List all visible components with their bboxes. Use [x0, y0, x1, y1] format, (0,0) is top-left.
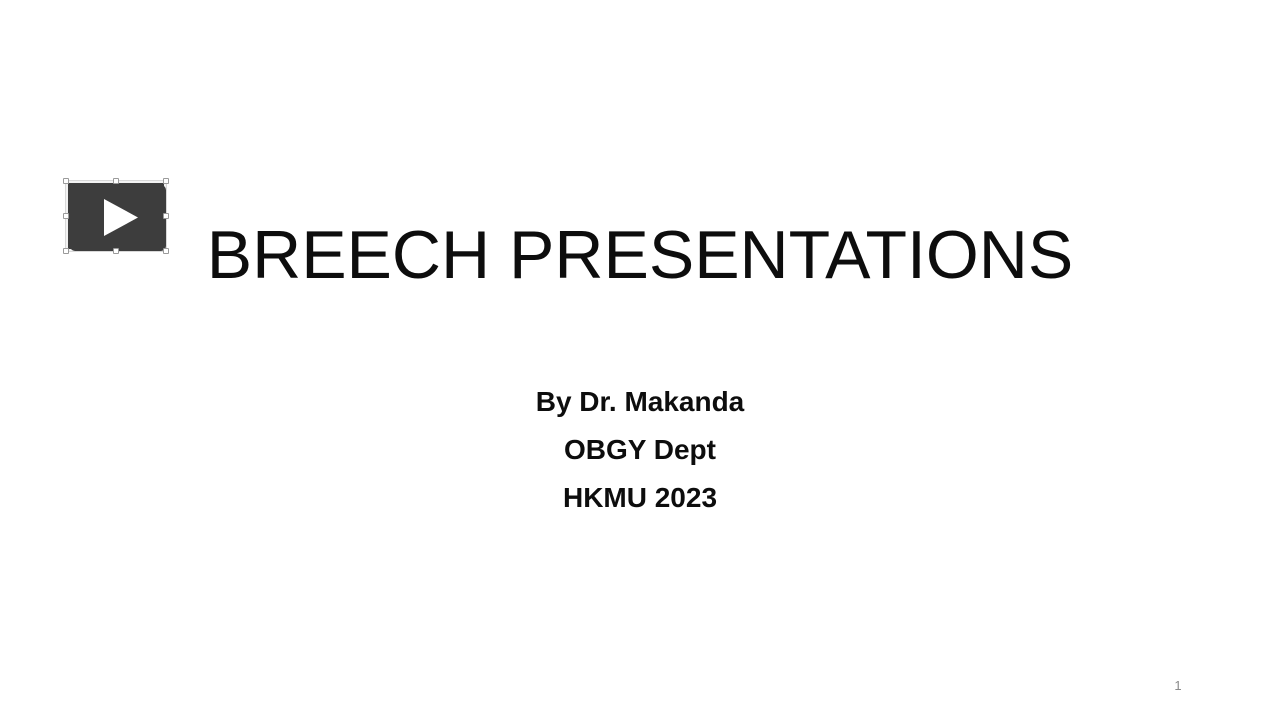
subtitle-line-institution-year: HKMU 2023	[240, 474, 1040, 522]
selection-handle-top-center[interactable]	[113, 178, 119, 184]
presentation-slide: BREECH PRESENTATIONS By Dr. Makanda OBGY…	[0, 0, 1280, 720]
selection-handle-top-left[interactable]	[63, 178, 69, 184]
selection-handle-top-right[interactable]	[163, 178, 169, 184]
slide-subtitle-block[interactable]: By Dr. Makanda OBGY Dept HKMU 2023	[240, 378, 1040, 522]
selection-handle-middle-right[interactable]	[163, 213, 169, 219]
selection-handle-bottom-center[interactable]	[113, 248, 119, 254]
selection-handle-bottom-right[interactable]	[163, 248, 169, 254]
slide-title[interactable]: BREECH PRESENTATIONS	[190, 218, 1090, 292]
selection-handle-middle-left[interactable]	[63, 213, 69, 219]
media-placeholder-object[interactable]	[66, 181, 166, 251]
subtitle-line-department: OBGY Dept	[240, 426, 1040, 474]
media-placeholder-frame[interactable]	[66, 181, 166, 251]
play-icon[interactable]	[98, 196, 142, 240]
slide-number: 1	[1150, 678, 1206, 693]
subtitle-line-author: By Dr. Makanda	[240, 378, 1040, 426]
selection-handle-bottom-left[interactable]	[63, 248, 69, 254]
